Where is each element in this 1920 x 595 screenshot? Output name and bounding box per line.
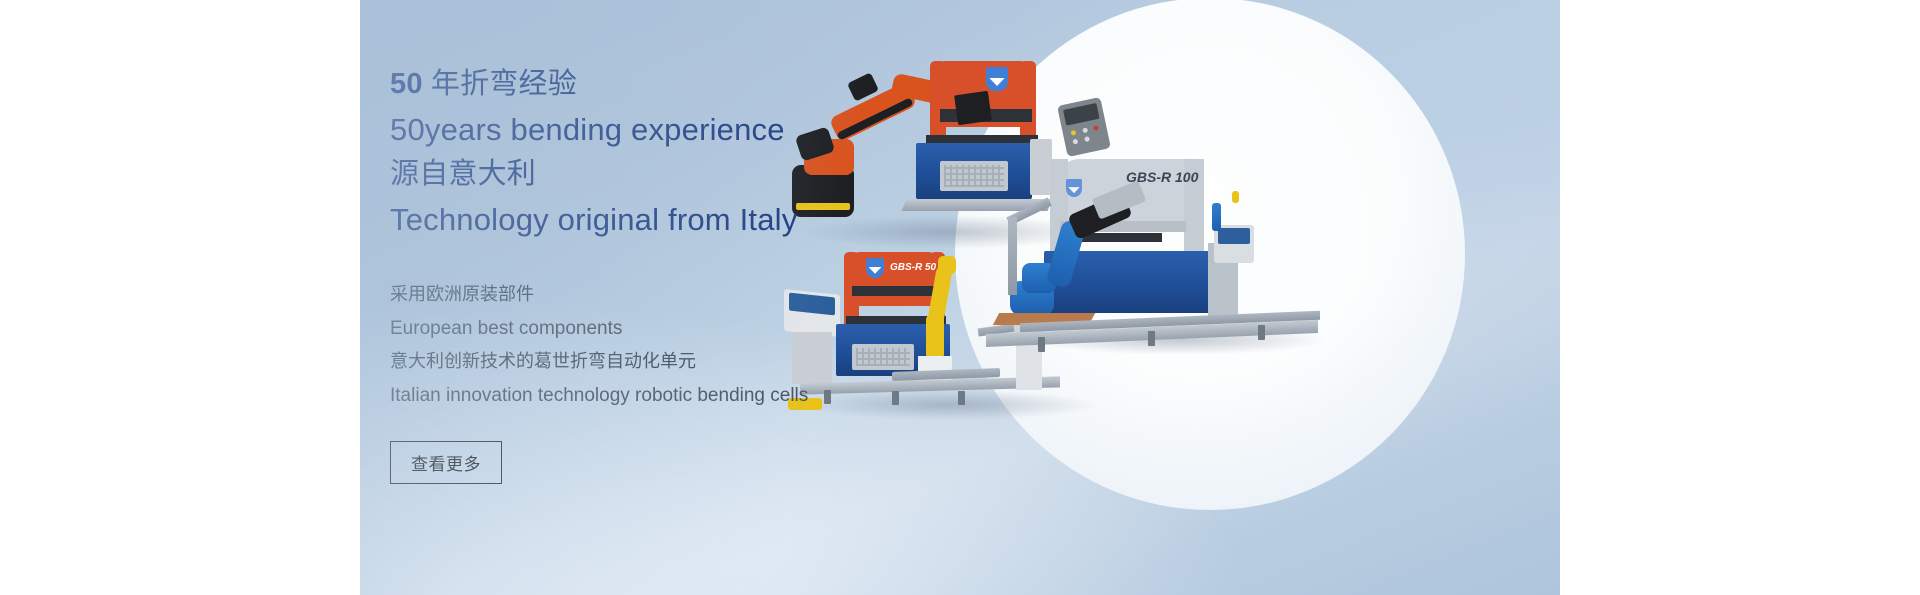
press-brake-vent-panel [940, 161, 1008, 191]
machine-gbs-r-100-cell: GBS-R 100 [1008, 155, 1338, 355]
banner-copy: 50 年折弯经验 50years bending experience 源自意大… [390, 0, 950, 595]
subtext-line-1: 采用欧洲原装部件 [390, 278, 950, 312]
pendant-button [1093, 125, 1099, 131]
pendant-button [1084, 137, 1090, 143]
subtext-line-3: 意大利创新技术的葛世折弯自动化单元 [390, 345, 950, 379]
headline-line-2: 50years bending experience [390, 107, 950, 152]
banner-background: GBS-R 50 [360, 0, 1560, 595]
control-pendant [1057, 97, 1111, 157]
hero-banner: GBS-R 50 [0, 0, 1920, 595]
pendant-button [1082, 127, 1088, 133]
workpiece-sheet [954, 91, 992, 125]
subtext-line-2: European best components [390, 312, 950, 346]
headline-block: 50 年折弯经验 50years bending experience 源自意大… [390, 62, 950, 242]
subtext-block: 采用欧洲原装部件 European best components 意大利创新技… [390, 278, 950, 412]
gbs100-hmi-console [1214, 225, 1254, 263]
headline-number: 50 [390, 68, 423, 100]
subtext-line-4: Italian innovation technology robotic be… [390, 379, 950, 413]
rail-foot [958, 391, 965, 405]
stack-light [1232, 191, 1239, 203]
rail-foot [1258, 325, 1265, 340]
pendant-button [1072, 139, 1078, 145]
headline-line-1: 50 年折弯经验 [390, 62, 950, 107]
pendant-screen [1063, 103, 1099, 125]
gbs100-hmi-screen [1218, 228, 1251, 244]
loading-frame-upright [1008, 217, 1017, 295]
lag-logo-top [986, 67, 1008, 91]
headline-line-3: 源自意大利 [390, 152, 950, 197]
headline-line-4: Technology original from Italy [390, 197, 950, 242]
lag-logo-gbs100 [1066, 179, 1082, 197]
rail-foot [1038, 337, 1045, 352]
pendant-button [1071, 130, 1077, 136]
view-more-button[interactable]: 查看更多 [390, 441, 502, 484]
rail-foot [1148, 331, 1155, 346]
headline-line-1-rest: 年折弯经验 [423, 68, 577, 100]
gbs100-hmi-post [1212, 203, 1221, 231]
